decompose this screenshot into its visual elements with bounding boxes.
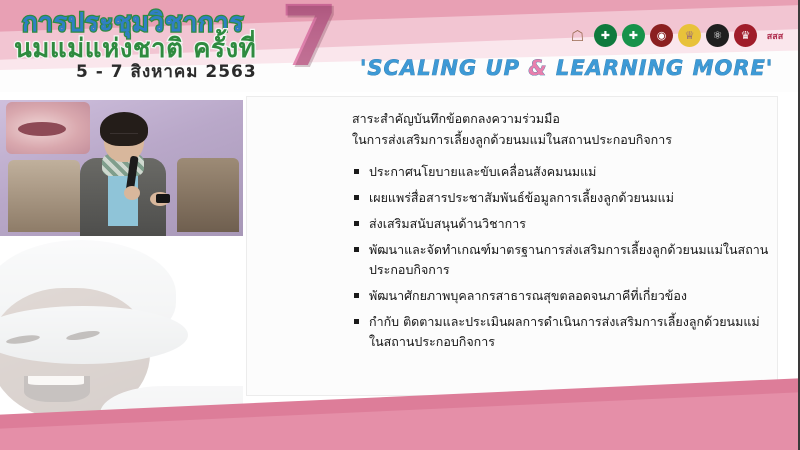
conference-tagline: 'SCALING UP & LEARNING MORE' (360, 56, 773, 80)
tagline-ampersand: & (528, 56, 547, 80)
list-item-label: ส่งเสริมสนับสนุนด้านวิชาการ (369, 216, 526, 231)
square-bullet-icon (354, 195, 359, 200)
lead-line-1: สาระสำคัญบันทึกข้อตกลงความร่วมมือ (352, 108, 772, 129)
presenter-remote (156, 194, 170, 203)
child-teeth (28, 376, 84, 385)
edition-number: 7 (280, 0, 338, 78)
list-item: ส่งเสริมสนับสนุนด้านวิชาการ (352, 214, 772, 234)
logo-thaihealth-sss: สสส (762, 24, 788, 47)
list-item: พัฒนาศักยภาพบุคลากรสาธารณสุขตลอดจนภาคีที… (352, 286, 772, 306)
logo-red-emblem: ♛ (734, 24, 757, 47)
list-item-label: ประกาศนโยบายและขับเคลื่อนสังคมนมแม่ (369, 164, 596, 179)
square-bullet-icon (354, 319, 359, 324)
slide-header-banner: 7 การประชุมวิชาการ นมแม่แห่งชาติ ครั้งที… (0, 0, 800, 92)
bullet-list: ประกาศนโยบายและขับเคลื่อนสังคมนมแม่ เผยแ… (352, 162, 772, 352)
speaker-hand-left (124, 186, 140, 200)
square-bullet-icon (354, 293, 359, 298)
list-item-label: พัฒนาและจัดทำเกณฑ์มาตรฐานการส่งเสริมการเ… (369, 242, 768, 277)
slide-body-text: สาระสำคัญบันทึกข้อตกลงความร่วมมือ ในการส… (352, 108, 772, 358)
chair-left (8, 160, 80, 232)
square-bullet-icon (354, 221, 359, 226)
list-item: พัฒนาและจัดทำเกณฑ์มาตรฐานการส่งเสริมการเ… (352, 240, 772, 280)
list-item-label: เผยแพร่สื่อสารประชาสัมพันธ์ข้อมูลการเลี้… (369, 190, 674, 205)
list-item-label: กำกับ ติดตามและประเมินผลการดำเนินการส่งเ… (369, 314, 760, 349)
presentation-slide: 7 การประชุมวิชาการ นมแม่แห่งชาติ ครั้งที… (0, 0, 800, 450)
logo-health-department: ✚ (622, 24, 645, 47)
list-item-label: พัฒนาศักยภาพบุคลากรสาธารณสุขตลอดจนภาคีที… (369, 288, 687, 303)
logo-royal-garuda: ♕ (678, 24, 701, 47)
logo-black-emblem: ⚛ (706, 24, 729, 47)
square-bullet-icon (354, 169, 359, 174)
backdrop-lips-graphic (6, 102, 90, 154)
list-item: กำกับ ติดตามและประเมินผลการดำเนินการส่งเ… (352, 312, 772, 352)
square-bullet-icon (354, 247, 359, 252)
speaker-glasses (110, 133, 138, 141)
list-item: เผยแพร่สื่อสารประชาสัมพันธ์ข้อมูลการเลี้… (352, 188, 772, 208)
speaker-video-still (0, 98, 243, 236)
tagline-suffix: LEARNING MORE' (548, 56, 774, 80)
tagline-prefix: 'SCALING UP (360, 56, 528, 80)
list-item: ประกาศนโยบายและขับเคลื่อนสังคมนมแม่ (352, 162, 772, 182)
chair-right (177, 158, 239, 232)
conference-date-range: 5 - 7 สิงหาคม 2563 (76, 58, 257, 85)
logo-thai-crest-red: ◉ (650, 24, 673, 47)
logo-ministry-public-health: ✚ (594, 24, 617, 47)
logo-thai-royal-emblem: ☖ (566, 24, 589, 47)
sponsor-logo-strip: ☖ ✚ ✚ ◉ ♕ ⚛ ♛ สสส (566, 24, 788, 47)
lead-line-2: ในการส่งเสริมการเลี้ยงลูกด้วยนมแม่ในสถาน… (352, 129, 772, 150)
